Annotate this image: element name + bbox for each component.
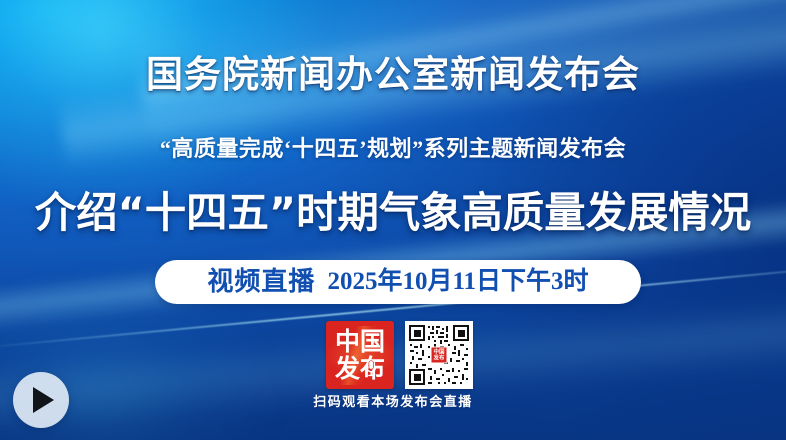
live-datetime: 2025年10月11日下午3时 xyxy=(327,267,588,297)
qr-finder-top-left xyxy=(409,325,425,341)
logo-text-line-1: 中国 xyxy=(335,328,385,355)
scan-caption: 扫码观看本场发布会直播 xyxy=(0,394,786,412)
brand-and-qr-group: 中国 发布 xyxy=(326,321,473,389)
series-subtitle: “高质量完成‘十四五’规划”系列主题新闻发布会 xyxy=(0,133,786,165)
broadcast-poster: 国务院新闻办公室新闻发布会 “高质量完成‘十四五’规划”系列主题新闻发布会 介绍… xyxy=(0,0,786,440)
china-release-logo: 中国 发布 xyxy=(326,321,394,389)
page-title: 国务院新闻办公室新闻发布会 xyxy=(0,52,786,100)
logo-text-line-2: 发布 xyxy=(335,355,385,382)
qr-center-line-2: 发布 xyxy=(433,355,444,361)
qr-center-brand: 中国 发布 xyxy=(431,347,448,364)
play-button[interactable] xyxy=(13,372,69,428)
qr-code[interactable]: 中国 发布 xyxy=(405,321,473,389)
live-schedule-badge: 视频直播 2025年10月11日下午3时 xyxy=(155,260,641,304)
live-label: 视频直播 xyxy=(207,267,315,297)
qr-finder-bottom-left xyxy=(409,369,425,385)
qr-code-pattern: 中国 发布 xyxy=(407,323,471,387)
topic-headline: 介绍“十四五”时期气象高质量发展情况 xyxy=(6,186,780,240)
qr-finder-top-right xyxy=(453,325,469,341)
play-icon xyxy=(33,387,54,413)
